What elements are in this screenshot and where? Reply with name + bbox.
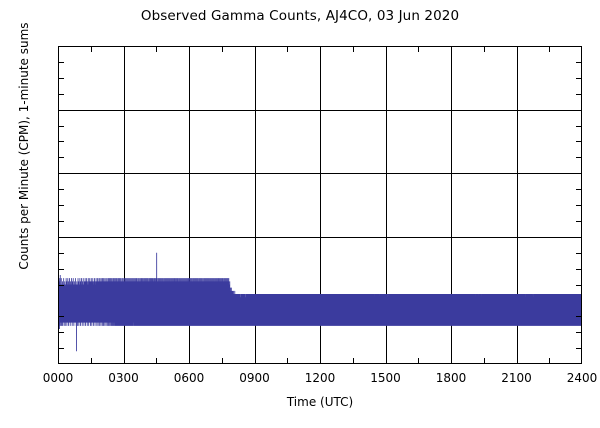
chart-title: Observed Gamma Counts, AJ4CO, 03 Jun 202… <box>0 8 600 24</box>
x-tick-label: 1500 <box>356 372 416 384</box>
plot-svg <box>58 46 582 364</box>
x-tick-label: 0300 <box>94 372 154 384</box>
gamma-counts-chart-figure: Observed Gamma Counts, AJ4CO, 03 Jun 202… <box>0 0 600 428</box>
x-tick-label: 2100 <box>487 372 547 384</box>
x-tick-label: 0000 <box>28 372 88 384</box>
x-tick-label: 0600 <box>159 372 219 384</box>
x-tick-label: 2400 <box>552 372 600 384</box>
plot-area <box>58 46 582 364</box>
x-tick-label: 1200 <box>290 372 350 384</box>
x-tick-label: 0900 <box>225 372 285 384</box>
x-axis-label: Time (UTC) <box>58 395 582 409</box>
x-tick-label: 1800 <box>421 372 481 384</box>
y-axis-label: Counts per Minute (CPM), 1-minute sums <box>17 0 31 416</box>
